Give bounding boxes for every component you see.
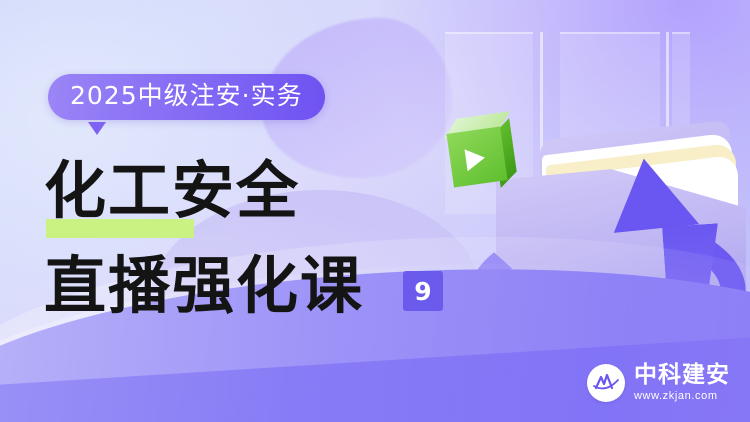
brand-name: 中科建安 (634, 364, 730, 387)
course-promo-banner: 2025中级注安·实务 化工安全 直播强化课 9 中科建安 www.zkjan.… (0, 0, 750, 422)
course-category-label: 2025中级注安·实务 (70, 81, 303, 110)
course-title-line-2: 直播强化课 (44, 255, 364, 317)
brand-logo-text: 中科建安 www.zkjan.com (634, 364, 730, 402)
course-category-pill: 2025中级注安·实务 (48, 74, 325, 120)
episode-number-label: 9 (414, 279, 431, 304)
brand-logo: 中科建安 www.zkjan.com (587, 364, 730, 402)
play-triangle-icon (465, 147, 487, 171)
zkjan-circle-logo-icon (587, 364, 625, 402)
pill-tail-pointer (88, 122, 106, 135)
course-title-line-1: 化工安全 (44, 160, 300, 222)
brand-url: www.zkjan.com (634, 391, 730, 402)
episode-number-badge: 9 (403, 271, 443, 311)
